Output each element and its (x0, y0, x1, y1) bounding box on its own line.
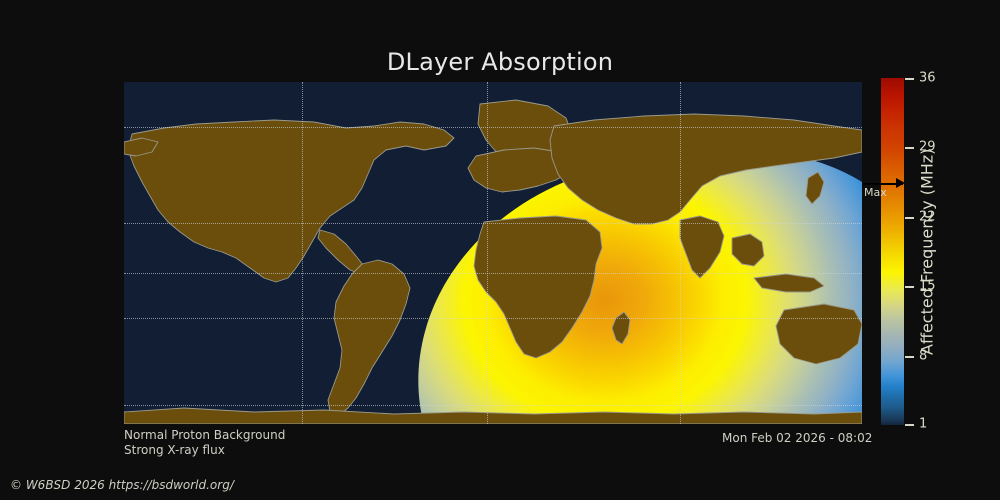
note-xray-flux: Strong X-ray flux (124, 443, 285, 458)
gridline-lat-23n (124, 223, 862, 224)
condition-notes: Normal Proton Background Strong X-ray fl… (124, 428, 285, 458)
colorbar-tick (905, 424, 914, 426)
page-title: DLayer Absorption (0, 48, 1000, 76)
colorbar-tick (905, 78, 914, 80)
note-proton-background: Normal Proton Background (124, 428, 285, 443)
world-map-panel (124, 82, 862, 424)
gridline-lat-60s (124, 405, 862, 406)
dlayer-absorption-plot: DLayer Absorption (0, 0, 1000, 500)
max-marker-label: Max (864, 186, 887, 199)
gridline-lon-90e (680, 82, 681, 424)
gridline-lat-0 (124, 273, 862, 274)
max-marker-arrow-icon (896, 178, 905, 188)
coastline-layer (124, 82, 862, 424)
colorbar-tick (905, 217, 914, 219)
gridline-lat-60n (124, 127, 862, 128)
gridline-lat-23s (124, 318, 862, 319)
colorbar-tick (905, 286, 914, 288)
timestamp: Mon Feb 02 2026 - 08:02 (722, 431, 872, 445)
colorbar-tick (905, 147, 914, 149)
colorbar-gradient (881, 78, 904, 425)
copyright-notice: © W6BSD 2026 https://bsdworld.org/ (10, 478, 234, 492)
gridline-lon-0 (487, 82, 488, 424)
colorbar-tick (905, 356, 914, 358)
colorbar-axis-label: Affected Frequency (MHz) (915, 78, 939, 425)
gridline-lon-90w (302, 82, 303, 424)
colorbar: 36 29 22 15 8 1 Max (881, 78, 904, 425)
